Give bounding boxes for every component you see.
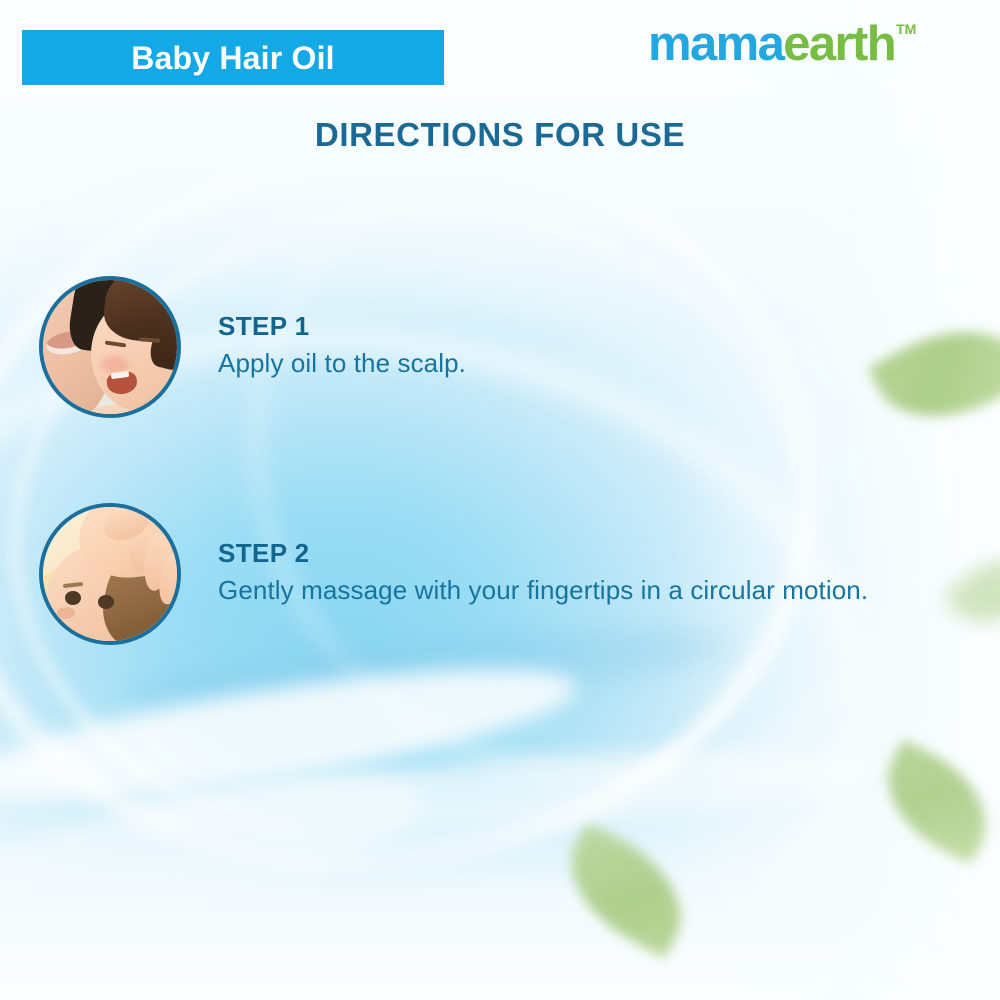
step-2-thumbnail [39,503,181,645]
step-1-text-block: STEP 1 Apply oil to the scalp. [218,313,466,380]
product-title-banner: Baby Hair Oil [22,30,444,85]
hand-massaging-baby-photo [43,507,177,641]
product-title-text: Baby Hair Oil [131,42,335,74]
step-1-label: STEP 1 [218,313,466,340]
brand-logo: mama earth TM [648,20,916,69]
product-directions-banner: Baby Hair Oil mama earth TM DIRECTIONS F… [0,0,1000,1000]
step-item-1: STEP 1 Apply oil to the scalp. [39,276,466,418]
step-2-description: Gently massage with your fingertips in a… [218,574,868,608]
trademark-icon: TM [896,22,916,36]
step-1-description: Apply oil to the scalp. [218,347,466,381]
step-item-2: STEP 2 Gently massage with your fingerti… [39,503,868,645]
page-title: DIRECTIONS FOR USE [0,116,1000,154]
step-2-label: STEP 2 [218,540,868,567]
step-1-thumbnail [39,276,181,418]
baby-smiling-photo [43,280,177,414]
step-2-text-block: STEP 2 Gently massage with your fingerti… [218,540,868,607]
brand-logo-earth: earth [783,20,895,69]
brand-logo-mama: mama [648,20,783,69]
